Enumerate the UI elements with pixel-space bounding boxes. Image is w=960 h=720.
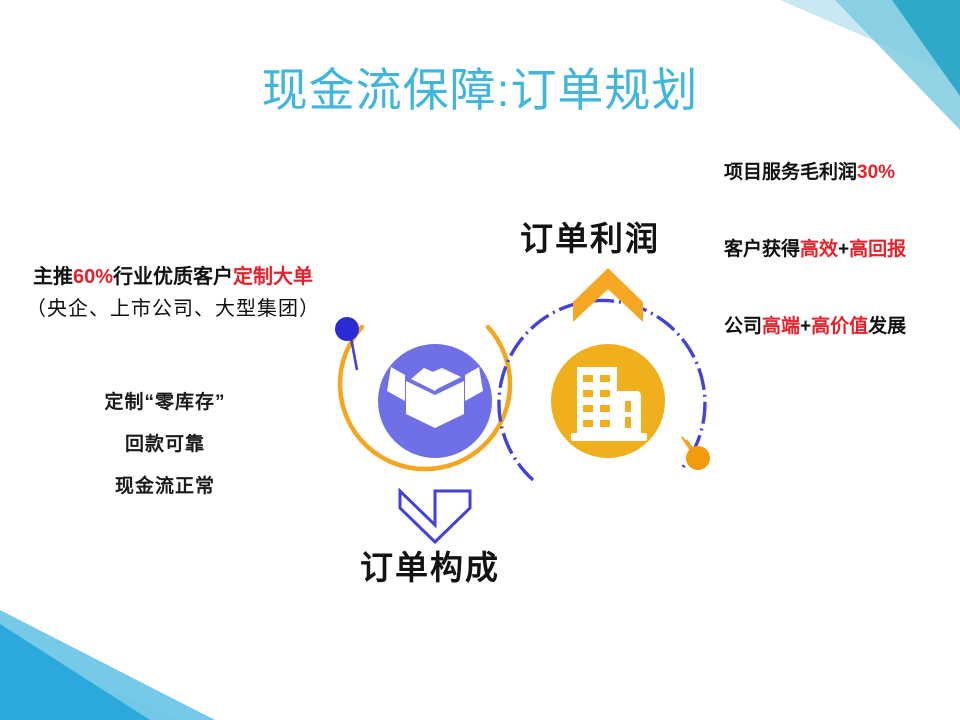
blue-dot — [335, 317, 359, 341]
left-headline-part-1: 主推 — [33, 266, 73, 288]
center-diagram: 订单利润 订单构成 — [325, 205, 725, 595]
right-line-1-part-1: 项目服务毛利润 — [724, 162, 857, 183]
decoration-bottom-left — [0, 590, 300, 720]
left-text-block: 主推60%行业优质客户定制大单 （央企、上市公司、大型集团） — [8, 262, 338, 326]
diagram-graphics — [325, 205, 725, 595]
left-headline-part-2: 60% — [73, 266, 113, 288]
left-subline: （央企、上市公司、大型集团） — [8, 292, 338, 326]
left-headline-part-3: 行业优质客户 — [113, 266, 233, 288]
chevron-down-arrow — [400, 491, 470, 542]
right-line-2: 客户获得高效+高回报 — [724, 237, 954, 263]
right-line-3-part-3: + — [800, 316, 811, 337]
right-line-1: 项目服务毛利润30% — [724, 160, 954, 186]
right-line-3-part-1: 公司 — [724, 316, 762, 337]
right-line-2-part-3: + — [838, 239, 849, 260]
left-headline-part-4: 定制大单 — [233, 266, 313, 288]
left-bullet-3: 现金流正常 — [30, 466, 300, 508]
label-order-composition: 订单构成 — [360, 547, 500, 589]
right-line-3: 公司高端+高价值发展 — [724, 314, 954, 340]
right-line-1-part-2: 30% — [857, 162, 895, 183]
left-bullet-1: 定制“零库存” — [30, 382, 300, 424]
right-line-3-part-2: 高端 — [762, 316, 800, 337]
right-line-2-part-2: 高效 — [800, 239, 838, 260]
right-line-3-part-5: 发展 — [868, 316, 906, 337]
right-text-block: 项目服务毛利润30% 客户获得高效+高回报 公司高端+高价值发展 — [724, 160, 954, 340]
slide-canvas: 现金流保障:订单规划 主推60%行业优质客户定制大单 （央企、上市公司、大型集团… — [0, 0, 960, 720]
left-headline: 主推60%行业优质客户定制大单 — [8, 262, 338, 292]
label-order-profit: 订单利润 — [520, 218, 660, 260]
left-bullet-list: 定制“零库存” 回款可靠 现金流正常 — [30, 382, 300, 508]
right-line-2-part-4: 高回报 — [849, 239, 906, 260]
right-line-2-part-1: 客户获得 — [724, 239, 800, 260]
orange-dot — [686, 446, 710, 470]
right-line-3-part-4: 高价值 — [811, 316, 868, 337]
page-title: 现金流保障:订单规划 — [0, 62, 960, 118]
left-bullet-2: 回款可靠 — [30, 424, 300, 466]
chevron-up-arrow — [573, 268, 643, 322]
